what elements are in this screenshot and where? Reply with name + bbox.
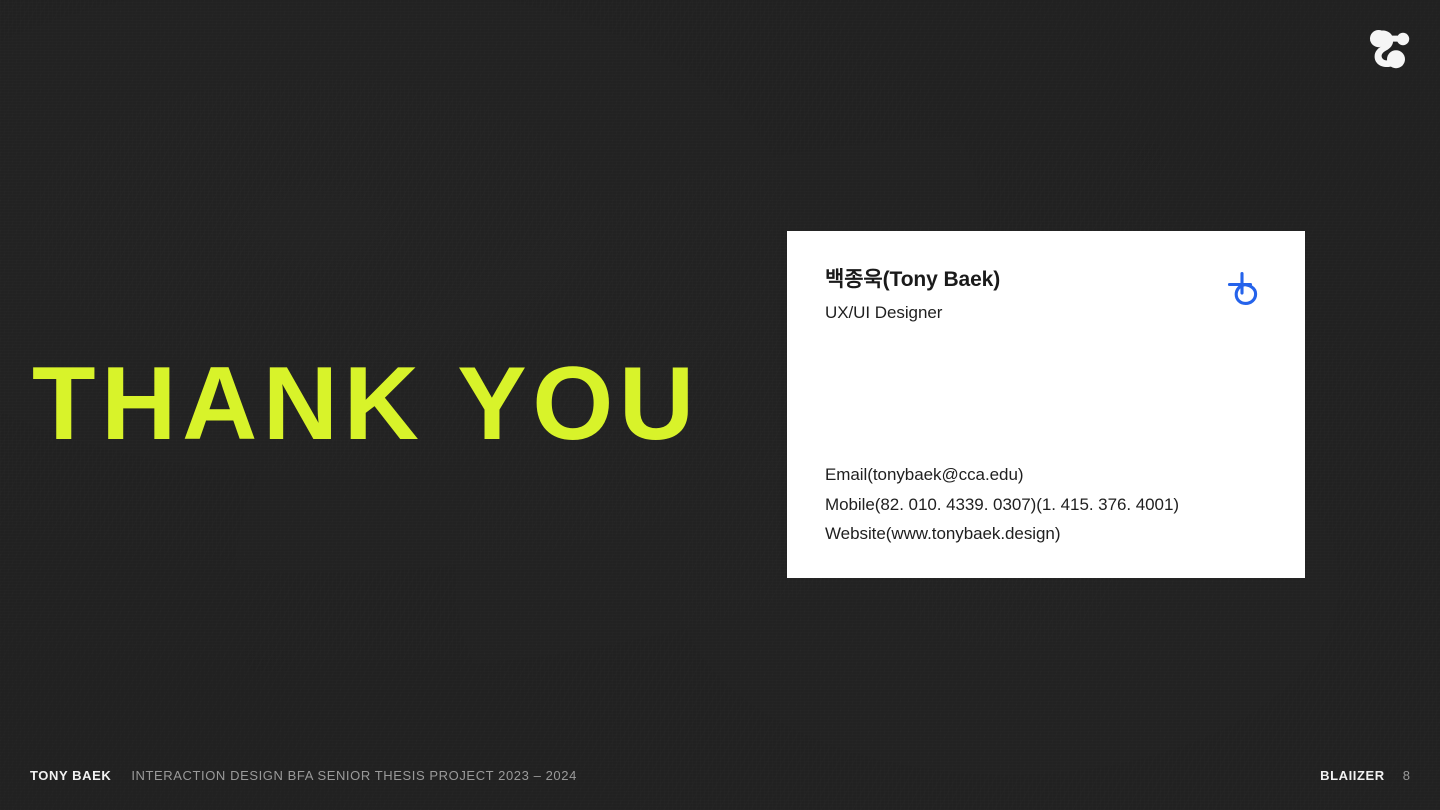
card-role: UX/UI Designer [825,302,1000,324]
business-card: 백종욱(Tony Baek) UX/UI Designer Email(tony… [787,231,1305,578]
slide-footer: TONY BAEK INTERACTION DESIGN BFA SENIOR … [0,768,1440,784]
footer-right-group: BLAIIZER 8 [1320,768,1410,783]
footer-author: TONY BAEK [30,768,111,783]
footer-brand: BLAIIZER [1320,768,1385,783]
card-header: 백종욱(Tony Baek) UX/UI Designer [825,267,1267,324]
footer-project-title: INTERACTION DESIGN BFA SENIOR THESIS PRO… [131,768,577,783]
contact-mobile: Mobile(82. 010. 4339. 0307)(1. 415. 376.… [825,490,1267,519]
card-identity: 백종욱(Tony Baek) UX/UI Designer [825,267,1000,324]
card-name: 백종욱(Tony Baek) [825,267,1000,293]
card-contact-block: Email(tonybaek@cca.edu) Mobile(82. 010. … [825,460,1267,548]
tb-monogram-icon [1225,269,1265,311]
page-title: THANK YOU [32,352,700,456]
brand-logo [1366,22,1414,74]
contact-email: Email(tonybaek@cca.edu) [825,460,1267,489]
footer-left-group: TONY BAEK INTERACTION DESIGN BFA SENIOR … [30,768,577,783]
contact-website: Website(www.tonybaek.design) [825,519,1267,548]
page-number: 8 [1403,768,1410,783]
card-spacer [825,324,1267,460]
presentation-slide: THANK YOU 백종욱(Tony Baek) UX/UI Designer … [0,0,1440,810]
